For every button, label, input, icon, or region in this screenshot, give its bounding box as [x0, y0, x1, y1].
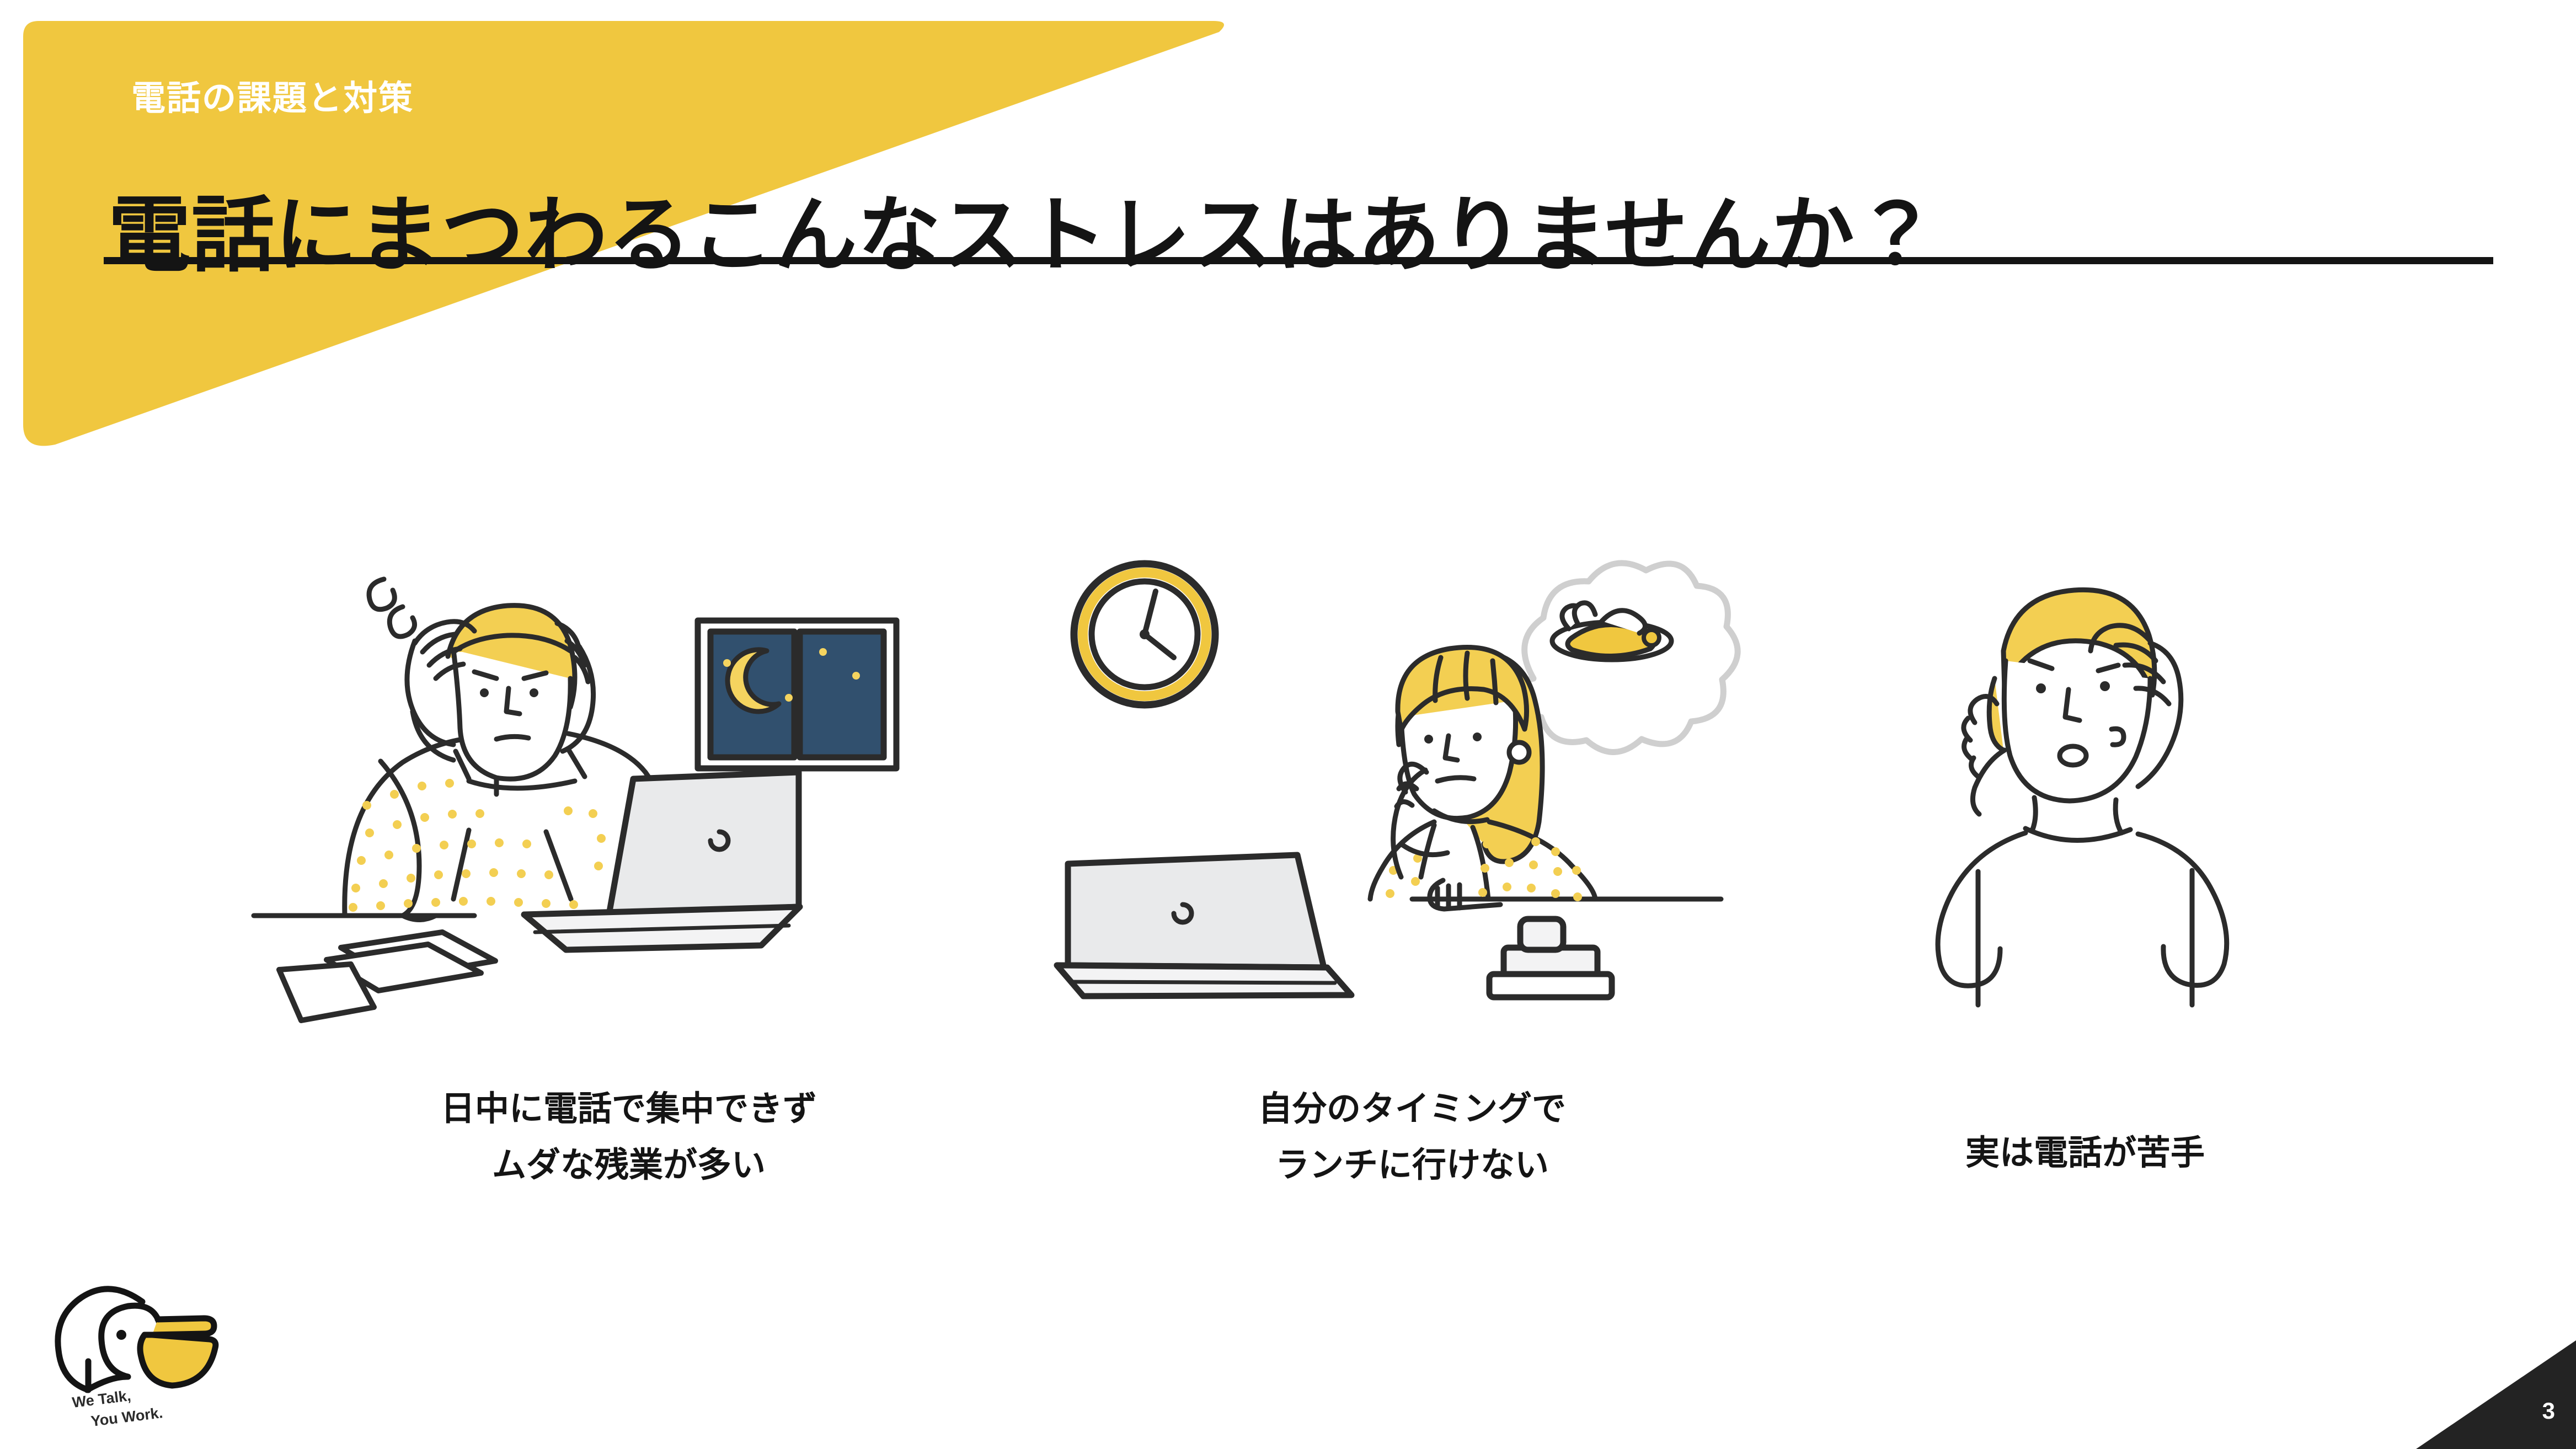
caption-line-2: ムダな残業が多い — [237, 1137, 1020, 1194]
page-number-corner — [2416, 1340, 2576, 1449]
brand-logo[interactable]: We Talk, You Work. — [44, 1269, 221, 1429]
illustration-woman-daydreaming-of-lunch — [1048, 513, 1776, 1065]
caption-line-2: ランチに行けない — [1048, 1137, 1776, 1194]
panel-overtime: 日中に電話で集中できず ムダな残業が多い — [237, 513, 1020, 1065]
night-window-icon — [698, 621, 896, 768]
illustration-person-on-phone-troubled — [1809, 513, 2361, 1065]
stress-squiggle-icon — [369, 579, 415, 637]
shoulder-left — [345, 739, 463, 916]
logo-tagline-line-1: We Talk, — [71, 1387, 132, 1411]
laptop-icon — [524, 772, 800, 950]
panels-container: 日中に電話で集中できず ムダな残業が多い — [0, 513, 2576, 1241]
caption-line-1: 実は電話が苦手 — [1809, 1125, 2361, 1181]
smartphone-icon — [1989, 678, 2003, 750]
page-number: 3 — [2542, 1399, 2555, 1423]
panel-caption: 実は電話が苦手 — [1809, 1125, 2361, 1181]
panel-phone-anxiety: 実は電話が苦手 — [1809, 513, 2361, 1065]
wall-clock-icon — [1074, 564, 1215, 705]
laptop-icon — [1057, 855, 1351, 996]
desk-phone-icon — [1489, 919, 1612, 997]
illustration-man-stressed-at-laptop-at-night — [237, 513, 1020, 1065]
slide-root: 電話の課題と対策 電話にまつわるこんなストレスはありませんか？ — [0, 0, 2576, 1449]
panel-lunch: 自分のタイミングで ランチに行けない — [1048, 513, 1776, 1065]
logo-tagline-line-2: You Work. — [90, 1404, 164, 1429]
pelican-head-logo — [58, 1289, 216, 1390]
shirt-dot-pattern — [349, 779, 655, 912]
panel-caption: 日中に電話で集中できず ムダな残業が多い — [237, 1081, 1020, 1194]
panel-caption: 自分のタイミングで ランチに行けない — [1048, 1081, 1776, 1194]
caption-line-1: 自分のタイミングで — [1048, 1081, 1776, 1137]
shirt-dot-pattern — [1386, 834, 1582, 901]
paper-stack-icon — [279, 932, 495, 1020]
eyebrow-label: 電話の課題と対策 — [131, 82, 414, 116]
caption-line-1: 日中に電話で集中できず — [237, 1081, 1020, 1137]
title-divider — [104, 257, 2493, 264]
